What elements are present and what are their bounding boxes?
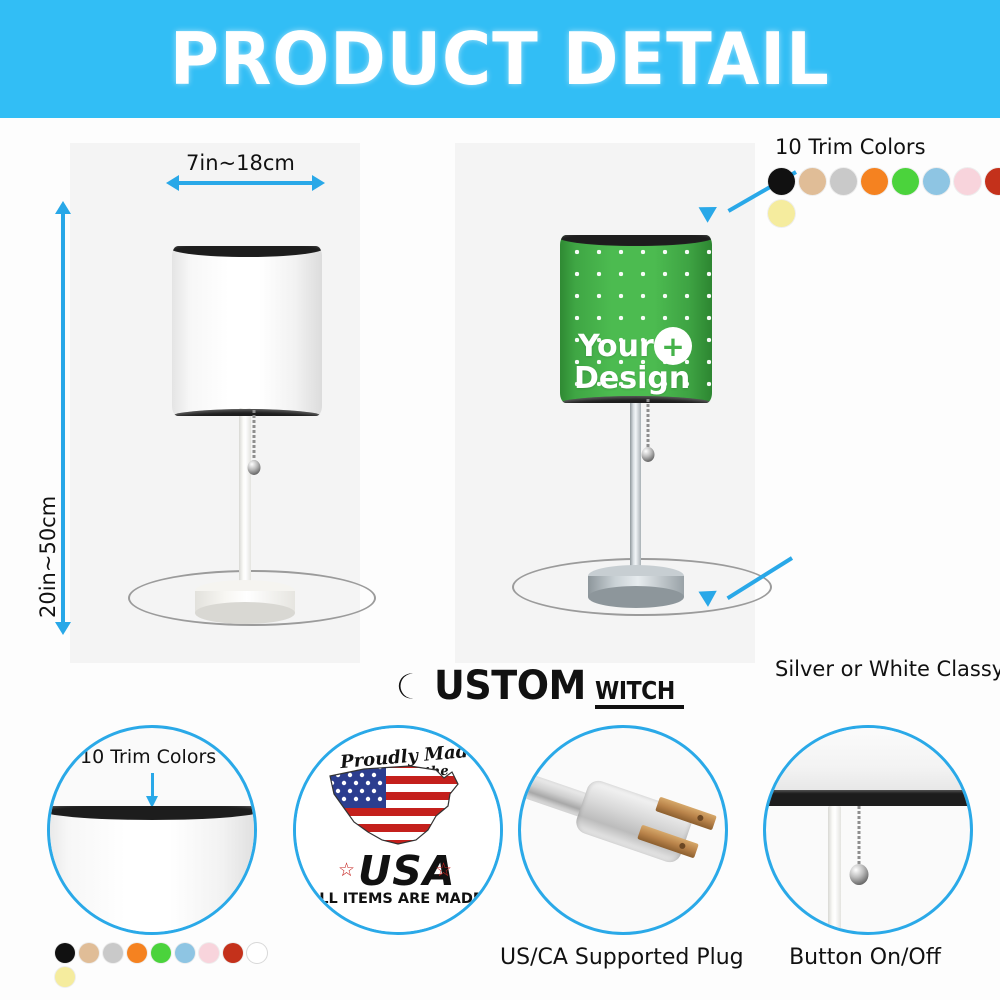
switch-pull-chain[interactable] (844, 806, 874, 896)
chain-line-left (253, 410, 256, 462)
logo-witch-text: WITCH (595, 676, 675, 705)
lamp-base-left (195, 580, 295, 624)
trim-swatches-top (768, 168, 1000, 227)
usa-star-right: ☆ (435, 859, 452, 882)
switch-shade-bottom (763, 725, 973, 793)
plug-blade-hole-top (697, 814, 705, 822)
trim-swatch-row-2-bottom (55, 967, 271, 987)
header-banner: PRODUCT DETAIL (0, 0, 1000, 118)
trim-swatch-tan[interactable] (799, 168, 826, 195)
feature-circle-switch (763, 725, 973, 935)
page-title: PRODUCT DETAIL (170, 17, 830, 101)
arrow-shaft-base (726, 556, 793, 600)
main-showcase: 7in~18cm 20in~50cm (0, 118, 1000, 663)
trim-swatch-red[interactable] (985, 168, 1000, 195)
lamp-shade-left (172, 246, 322, 416)
trim-colors-down-arrow (151, 773, 154, 797)
trim-swatch-row-1-bottom (55, 943, 271, 963)
width-dimension-arrow (178, 181, 313, 185)
trim-swatch-orange[interactable] (127, 943, 147, 963)
add-design-plus-icon[interactable]: + (654, 327, 692, 365)
feature-caption-switch: Button On/Off (745, 945, 985, 970)
trim-swatch-orange[interactable] (861, 168, 888, 195)
feature-caption-plug: US/CA Supported Plug (500, 945, 740, 970)
logo-underline (595, 705, 684, 709)
product-detail-infographic: PRODUCT DETAIL 7in~18cm 20in~50cm (0, 0, 1000, 1000)
trim-swatch-yellow[interactable] (55, 967, 75, 987)
design-text-line1: Your (578, 332, 654, 362)
base-finish-label: Silver or White Classy (775, 657, 1000, 681)
trim-swatch-pink[interactable] (199, 943, 219, 963)
lamp-left-white (150, 198, 350, 638)
base-bottom-right (588, 586, 684, 608)
trim-swatch-tan[interactable] (79, 943, 99, 963)
brand-logo: USTOM WITCH (392, 663, 686, 709)
trim-swatch-black[interactable] (768, 168, 795, 195)
trim-swatch-yellow[interactable] (768, 200, 795, 227)
feature-trim-colors-label: 10 Trim Colors (80, 746, 216, 768)
chain-ball-left (248, 460, 261, 475)
switch-pole (828, 806, 841, 934)
trim-colors-top-label: 10 Trim Colors (775, 135, 926, 159)
trim-swatch-black[interactable] (55, 943, 75, 963)
plug-blade-hole-bottom (679, 842, 687, 850)
trim-swatch-green[interactable] (892, 168, 919, 195)
chain-ball-right (642, 447, 655, 462)
usa-map-flag-icon (324, 760, 474, 855)
chain-line-right (647, 399, 650, 449)
trim-swatch-light-blue[interactable] (175, 943, 195, 963)
logo-witch-wrap: WITCH (595, 676, 686, 709)
trim-swatch-row-2 (768, 200, 1000, 227)
lamp-shade-right: Your + Design (560, 235, 712, 403)
feature-shade-surface (47, 806, 257, 935)
width-dimension-label: 7in~18cm (186, 151, 295, 175)
feature-circle-made-in-usa: Proudly Made in the (293, 725, 503, 935)
feature-circle-plug (518, 725, 728, 935)
trim-swatch-white[interactable] (247, 943, 267, 963)
feature-shade-closeup (47, 806, 257, 935)
lamp-base-right (588, 565, 684, 607)
usa-badge: Proudly Made in the (296, 728, 500, 932)
height-dimension-label: 20in~50cm (36, 496, 60, 618)
pull-chain-left (239, 410, 269, 480)
trim-swatch-gray[interactable] (103, 943, 123, 963)
logo-custom-text: USTOM (434, 663, 586, 709)
feature-circle-trim-colors: 10 Trim Colors (47, 725, 257, 935)
trim-swatches-bottom (55, 943, 271, 987)
shade-surface-left (172, 246, 322, 416)
design-text-line2: Design (574, 364, 690, 394)
switch-chain-ball[interactable] (850, 864, 869, 885)
usa-subtitle: ALL ITEMS ARE MADE TO ORDER! (308, 891, 503, 907)
switch-chain-line (858, 806, 861, 868)
trim-swatch-light-blue[interactable] (923, 168, 950, 195)
crescent-c-icon (392, 663, 438, 709)
trim-swatch-gray[interactable] (830, 168, 857, 195)
trim-swatch-red[interactable] (223, 943, 243, 963)
base-finish-pointer-arrow (700, 548, 810, 598)
trim-swatch-row-1 (768, 168, 1000, 195)
trim-swatch-pink[interactable] (954, 168, 981, 195)
trim-swatch-green[interactable] (151, 943, 171, 963)
base-bottom-left (195, 602, 295, 624)
usa-star-left: ☆ (338, 859, 355, 882)
pull-chain-right (633, 399, 663, 469)
switch-trim-bar (763, 790, 973, 806)
height-dimension-arrow (61, 213, 65, 623)
